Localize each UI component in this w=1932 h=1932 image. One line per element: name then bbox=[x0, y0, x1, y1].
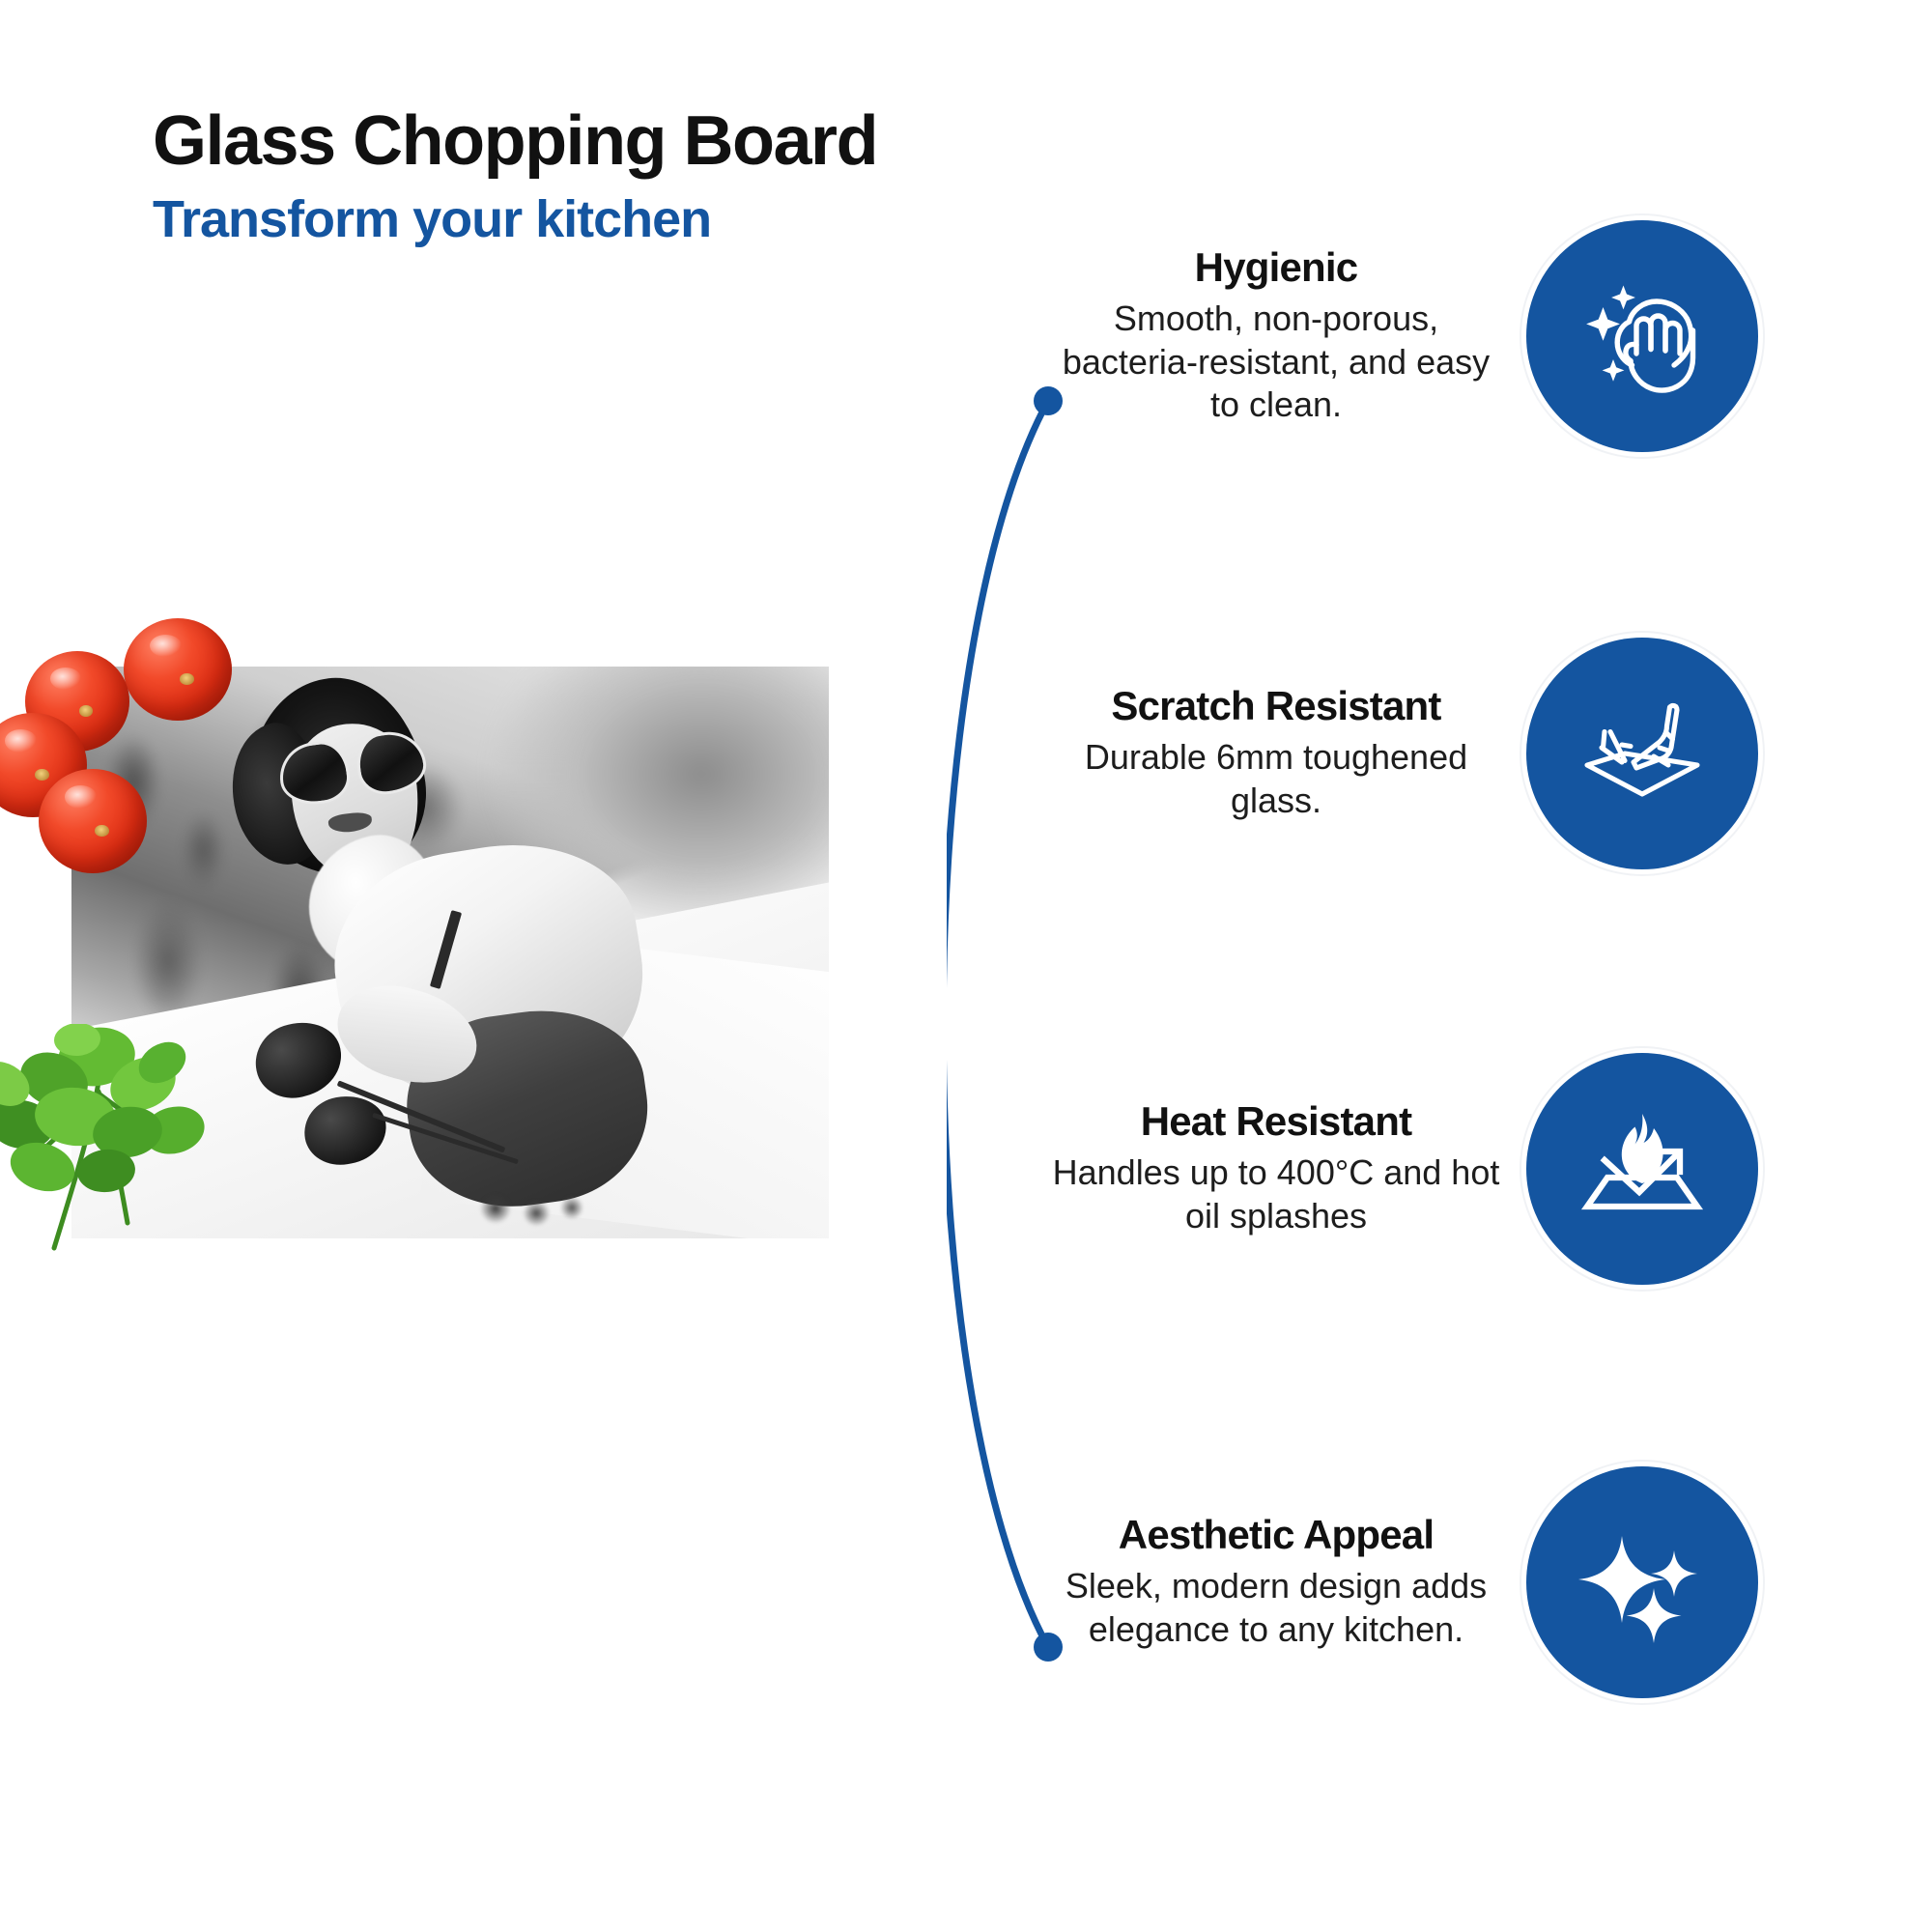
feature-scratch-resistant: Scratch Resistant Durable 6mm toughened … bbox=[1043, 638, 1758, 869]
feature-icon-badge bbox=[1526, 1053, 1758, 1285]
connector-path bbox=[947, 401, 1048, 1647]
cherry-tomato bbox=[124, 618, 232, 721]
skier-glove-left bbox=[245, 1011, 351, 1108]
sparkles-icon bbox=[1570, 1510, 1715, 1655]
distant-skiers bbox=[466, 1181, 602, 1227]
feature-icon-badge bbox=[1526, 220, 1758, 452]
tomato-stem-nub bbox=[79, 705, 93, 716]
sunglasses-lens-left bbox=[275, 738, 353, 810]
tomato-stem-nub bbox=[95, 825, 109, 837]
feature-text: Scratch Resistant Durable 6mm toughened … bbox=[1043, 684, 1526, 822]
sparkle-hand-wipe-icon bbox=[1570, 264, 1715, 409]
skier-glove-right bbox=[298, 1091, 391, 1172]
parsley-svg bbox=[0, 1024, 234, 1285]
feature-icon-badge bbox=[1526, 1466, 1758, 1698]
feature-title: Heat Resistant bbox=[1043, 1099, 1509, 1144]
tomato-stem-nub bbox=[35, 769, 49, 781]
header: Glass Chopping Board Transform your kitc… bbox=[153, 104, 877, 249]
feature-text: Heat Resistant Handles up to 400°C and h… bbox=[1043, 1099, 1526, 1237]
feature-description: Sleek, modern design adds elegance to an… bbox=[1043, 1565, 1509, 1651]
parsley-sprig bbox=[0, 1024, 234, 1285]
tomato-stem-nub bbox=[180, 673, 194, 685]
skier-figure bbox=[200, 672, 745, 1238]
sunglasses-lens-right bbox=[353, 727, 430, 799]
feature-description: Smooth, non-porous, bacteria-resistant, … bbox=[1043, 298, 1509, 427]
feature-text: Hygienic Smooth, non-porous, bacteria-re… bbox=[1043, 245, 1526, 427]
flame-deflect-icon bbox=[1570, 1096, 1715, 1241]
page-title: Glass Chopping Board bbox=[153, 104, 877, 178]
feature-hygienic: Hygienic Smooth, non-porous, bacteria-re… bbox=[1043, 220, 1758, 452]
feature-title: Aesthetic Appeal bbox=[1043, 1513, 1509, 1557]
page-subtitle: Transform your kitchen bbox=[153, 191, 877, 248]
cherry-tomato bbox=[39, 769, 147, 873]
feature-aesthetic-appeal: Aesthetic Appeal Sleek, modern design ad… bbox=[1043, 1466, 1758, 1698]
feature-description: Durable 6mm toughened glass. bbox=[1043, 736, 1509, 822]
feature-title: Hygienic bbox=[1043, 245, 1509, 290]
feature-heat-resistant: Heat Resistant Handles up to 400°C and h… bbox=[1043, 1053, 1758, 1285]
knife-on-surface-icon bbox=[1570, 681, 1715, 826]
feature-text: Aesthetic Appeal Sleek, modern design ad… bbox=[1043, 1513, 1526, 1651]
infographic-page: Glass Chopping Board Transform your kitc… bbox=[0, 0, 1932, 1932]
feature-description: Handles up to 400°C and hot oil splashes bbox=[1043, 1151, 1509, 1237]
feature-title: Scratch Resistant bbox=[1043, 684, 1509, 728]
feature-icon-badge bbox=[1526, 638, 1758, 869]
